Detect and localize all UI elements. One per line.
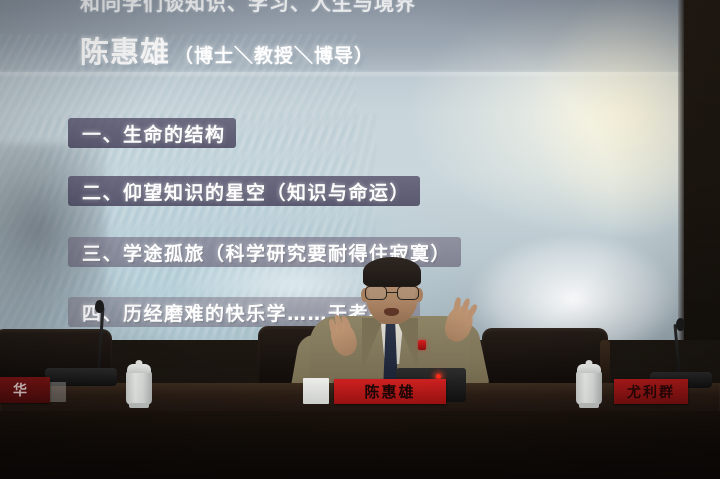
outline-text-1: 生命的结构: [123, 120, 226, 147]
outline-text-2: 仰望知识的星空（知识与命运）: [123, 178, 410, 205]
teacup-left: [126, 371, 152, 405]
glasses-bridge: [387, 292, 397, 293]
slide-speaker-credentials: （博士＼教授＼博导）: [174, 45, 374, 67]
screen-right-edge: [678, 0, 684, 340]
slide-speaker-name: 陈惠雄: [80, 35, 170, 69]
slide-speaker-title: 陈惠雄（博士＼教授＼博导）: [80, 29, 374, 71]
nameplate-right: 尤利群: [614, 379, 688, 404]
speaker-hair: [363, 257, 421, 287]
tent-card-center: [303, 378, 329, 404]
nameplate-left-text: 华: [13, 380, 29, 400]
slide-outline-item-2: 二、仰望知识的星空（知识与命运）: [68, 176, 420, 206]
speaker-lapel-right: [396, 318, 418, 370]
glasses-lens-right: [397, 286, 419, 300]
speaker-lapel-left: [362, 318, 384, 370]
nameplate-left: 华: [0, 377, 50, 403]
teacup-left-saucer: [129, 403, 149, 408]
desk-front-panel: [0, 411, 720, 479]
slide-outline-item-1: 一、生命的结构: [68, 118, 236, 148]
teacup-right: [576, 371, 602, 405]
speaker-mouth: [384, 308, 399, 316]
teacup-right-saucer: [579, 403, 599, 408]
outline-index-2: 二、: [82, 178, 123, 205]
speaker-glasses: [364, 286, 420, 301]
slide-top-line: 和同学们谈知识、学习、人生与境界: [80, 0, 416, 16]
tent-card-left: [48, 382, 66, 402]
wall-right-panel: [684, 0, 720, 340]
nameplate-center: 陈惠雄: [334, 379, 446, 404]
outline-index-1: 一、: [82, 120, 123, 147]
glasses-lens-left: [365, 286, 387, 300]
speaker-lapel-badge: [418, 340, 426, 350]
outline-index-3: 三、: [82, 239, 123, 266]
nameplate-right-text: 尤利群: [627, 382, 675, 402]
nameplate-center-text: 陈惠雄: [364, 381, 415, 402]
microphone-head-left: [95, 300, 104, 313]
microphone-head-right: [676, 318, 685, 331]
lecture-photo: 和同学们谈知识、学习、人生与境界 陈惠雄（博士＼教授＼博导） 一、生命的结构 二…: [0, 0, 720, 479]
